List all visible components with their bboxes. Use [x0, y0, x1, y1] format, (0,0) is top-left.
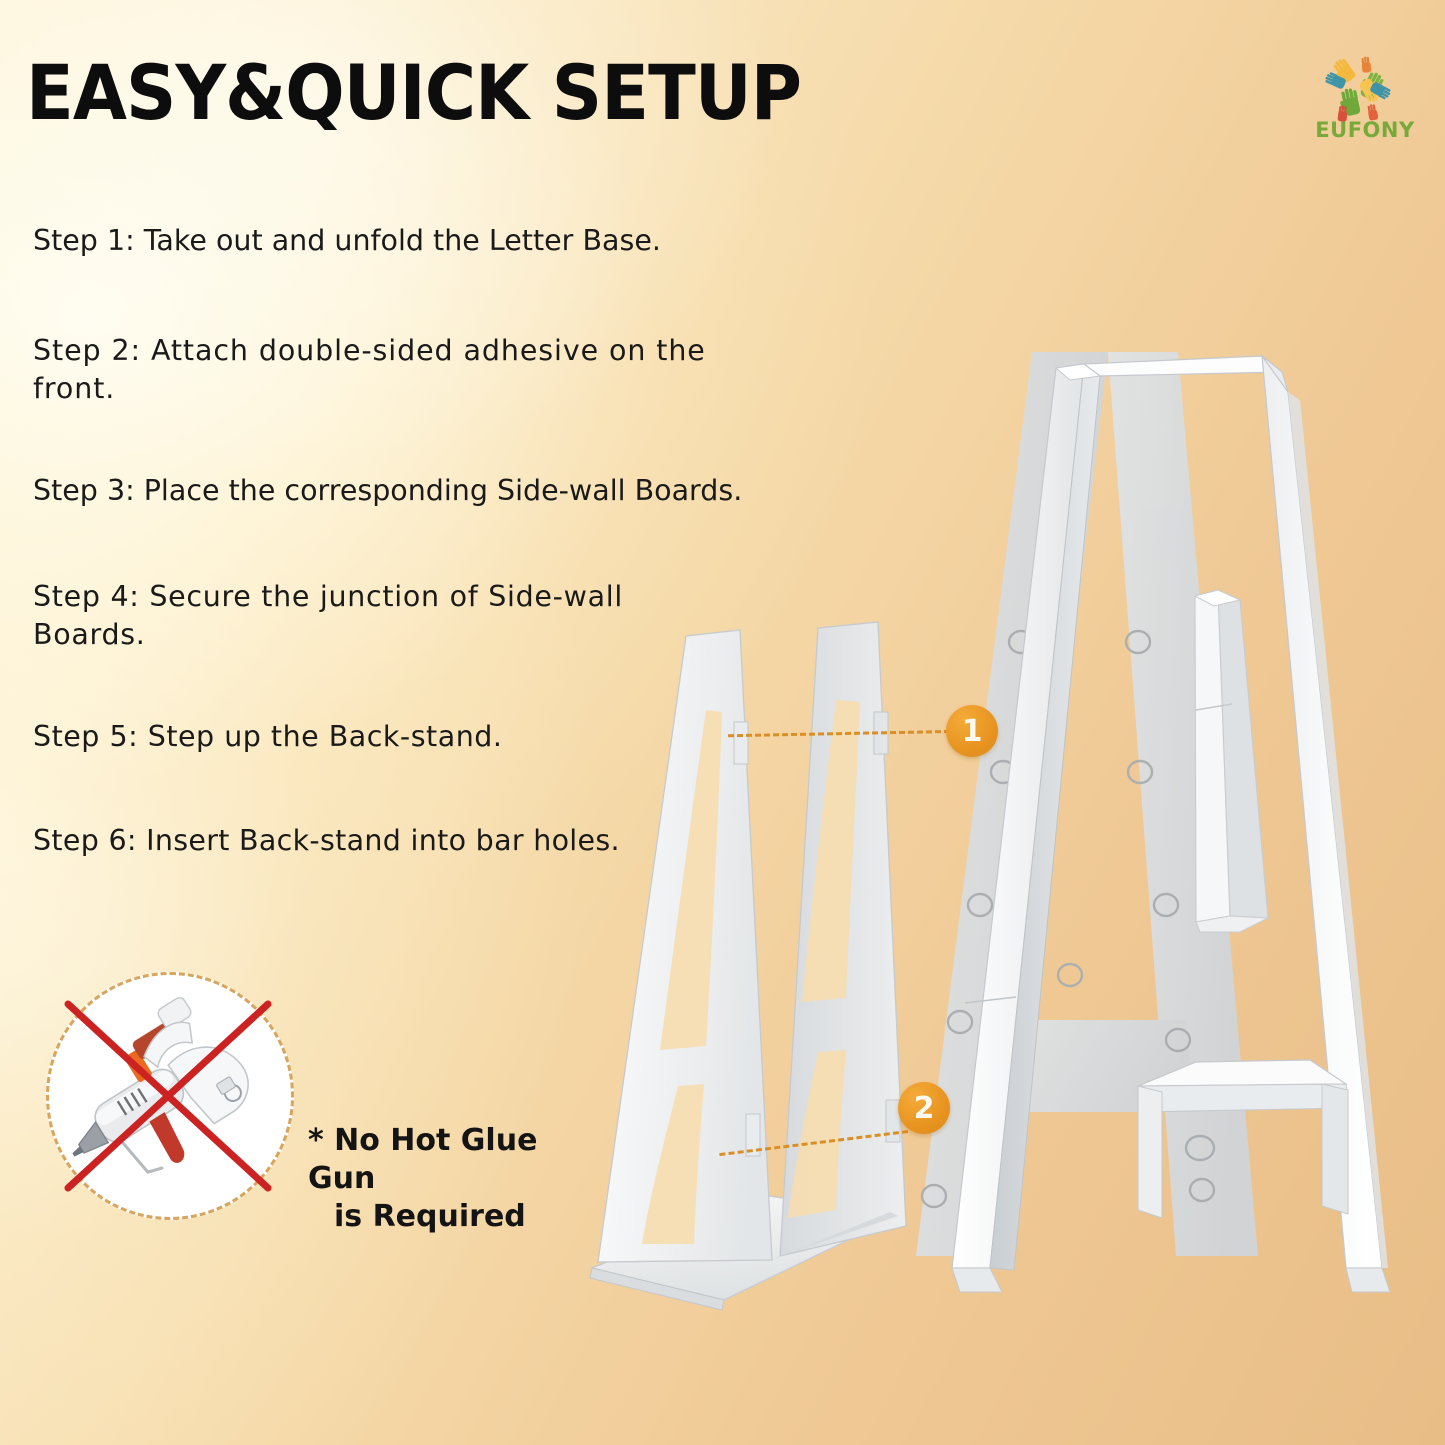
brand-logo: EUFONY	[1305, 56, 1425, 152]
step-item-1: Step 1: Take out and unfold the Letter B…	[33, 222, 793, 260]
step-item-5: Step 5: Step up the Back-stand.	[33, 718, 733, 756]
no-glue-gun-line2: is Required	[308, 1198, 588, 1236]
no-glue-gun-line1: * No Hot Glue Gun	[308, 1123, 537, 1196]
page-title: EASY&QUICK SETUP	[26, 48, 801, 137]
callout-marker-1: 1	[946, 705, 998, 757]
hand-circle-icon	[1305, 56, 1425, 122]
no-glue-gun-notice: * No Hot Glue Gun is Required	[46, 972, 576, 1212]
step-item-3: Step 3: Place the corresponding Side-wal…	[33, 472, 793, 510]
step-item-2: Step 2: Attach double-sided adhesive on …	[33, 332, 733, 409]
step-item-6: Step 6: Insert Back-stand into bar holes…	[33, 822, 733, 860]
brand-name: EUFONY	[1305, 118, 1425, 142]
step-item-4: Step 4: Secure the junction of Side-wall…	[33, 578, 693, 655]
no-hot-glue-gun-icon	[46, 972, 294, 1220]
callout-marker-2: 2	[898, 1082, 950, 1134]
no-glue-gun-label: * No Hot Glue Gun is Required	[308, 1122, 588, 1235]
